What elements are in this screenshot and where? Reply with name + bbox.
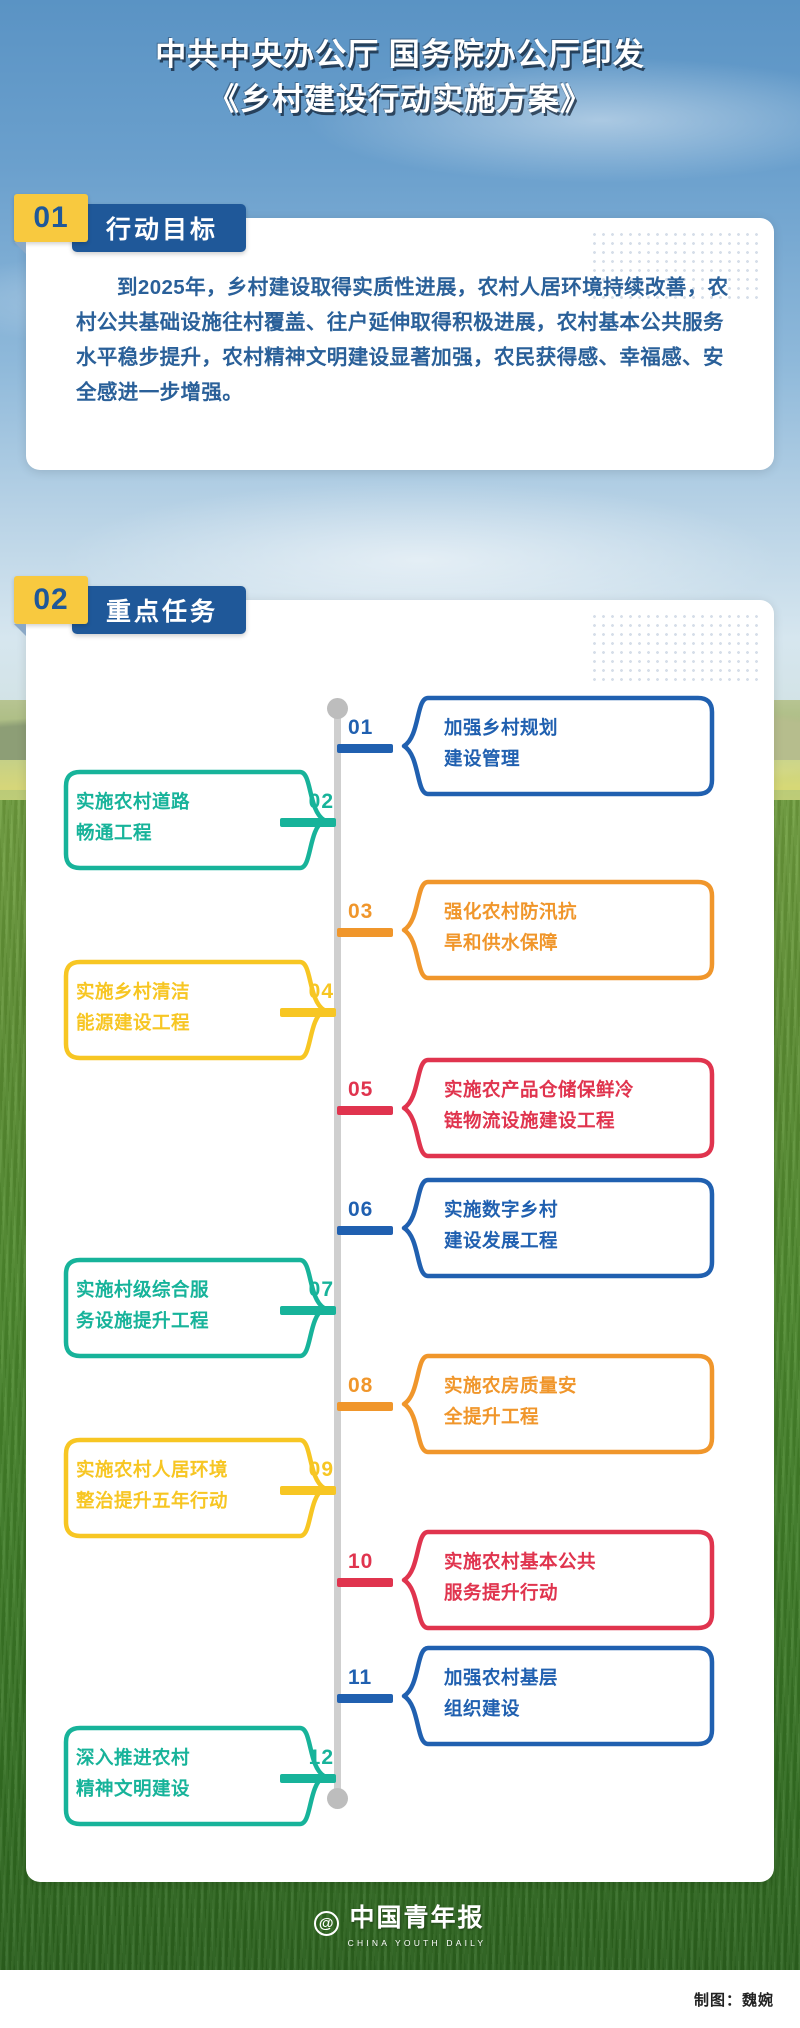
header-line-2: 《乡村建设行动实施方案》 bbox=[0, 76, 800, 124]
timeline-number-06: 06 bbox=[348, 1198, 373, 1222]
timeline-number-01: 01 bbox=[348, 716, 373, 740]
header-line-1: 中共中央办公厅 国务院办公厅印发 bbox=[0, 34, 800, 76]
timeline-tick-08 bbox=[337, 1402, 393, 1411]
footer-logo: @ 中国青年报 CHINA YOUTH DAILY bbox=[0, 1898, 800, 1948]
task-label-08: 实施农房质量安 全提升工程 bbox=[444, 1370, 706, 1432]
page-header: 中共中央办公厅 国务院办公厅印发 《乡村建设行动实施方案》 bbox=[0, 0, 800, 124]
tasks-timeline: 01加强乡村规划 建设管理02实施农村道路 畅通工程03强化农村防汛抗 旱和供水… bbox=[26, 692, 774, 1852]
timeline-number-03: 03 bbox=[348, 900, 373, 924]
task-label-07: 实施村级综合服 务设施提升工程 bbox=[76, 1274, 298, 1336]
section-tasks-card: 02 重点任务 01加强乡村规划 建设管理02实施农村道路 畅通工程03强化农村… bbox=[26, 600, 774, 1882]
timeline-number-05: 05 bbox=[348, 1078, 373, 1102]
timeline-tick-10 bbox=[337, 1578, 393, 1587]
task-label-09: 实施农村人居环境 整治提升五年行动 bbox=[76, 1454, 298, 1516]
timeline-number-10: 10 bbox=[348, 1550, 373, 1574]
task-label-12: 深入推进农村 精神文明建设 bbox=[76, 1742, 298, 1804]
timeline-tick-01 bbox=[337, 744, 393, 753]
timeline-spine bbox=[334, 706, 341, 1800]
timeline-tick-05 bbox=[337, 1106, 393, 1115]
task-label-10: 实施农村基本公共 服务提升行动 bbox=[444, 1546, 706, 1608]
credit-text: 制图：魏婉 bbox=[694, 1989, 774, 2010]
task-label-04: 实施乡村清洁 能源建设工程 bbox=[76, 976, 298, 1038]
at-badge-icon: @ bbox=[314, 1911, 339, 1936]
task-label-06: 实施数字乡村 建设发展工程 bbox=[444, 1194, 706, 1256]
section-goal-card: 01 行动目标 到2025年，乡村建设取得实质性进展，农村人居环境持续改善，农村… bbox=[26, 218, 774, 470]
credit-bar: 制图：魏婉 bbox=[0, 1970, 800, 2028]
task-label-11: 加强农村基层 组织建设 bbox=[444, 1662, 706, 1724]
task-label-02: 实施农村道路 畅通工程 bbox=[76, 786, 298, 848]
section-title-02: 重点任务 bbox=[72, 586, 246, 634]
timeline-tick-06 bbox=[337, 1226, 393, 1235]
timeline-cap-bottom bbox=[327, 1788, 348, 1809]
section-number-badge-02: 02 bbox=[14, 576, 88, 624]
section-number-badge-01: 01 bbox=[14, 194, 88, 242]
timeline-number-11: 11 bbox=[348, 1666, 372, 1690]
task-label-01: 加强乡村规划 建设管理 bbox=[444, 712, 706, 774]
logo-text-stack: 中国青年报 CHINA YOUTH DAILY bbox=[348, 1898, 487, 1948]
timeline-tick-03 bbox=[337, 928, 393, 937]
goal-paragraph: 到2025年，乡村建设取得实质性进展，农村人居环境持续改善，农村公共基础设施往村… bbox=[76, 270, 734, 410]
task-label-03: 强化农村防汛抗 旱和供水保障 bbox=[444, 896, 706, 958]
timeline-number-08: 08 bbox=[348, 1374, 373, 1398]
timeline-tick-11 bbox=[337, 1694, 393, 1703]
logo-name-cn: 中国青年报 bbox=[349, 1898, 484, 1934]
section-title-01: 行动目标 bbox=[72, 204, 246, 252]
task-label-05: 实施农产品仓储保鲜冷 链物流设施建设工程 bbox=[444, 1074, 706, 1136]
logo-name-en: CHINA YOUTH DAILY bbox=[348, 1938, 487, 1948]
halftone-dots-decoration-2 bbox=[590, 612, 760, 684]
timeline-cap-top bbox=[327, 698, 348, 719]
